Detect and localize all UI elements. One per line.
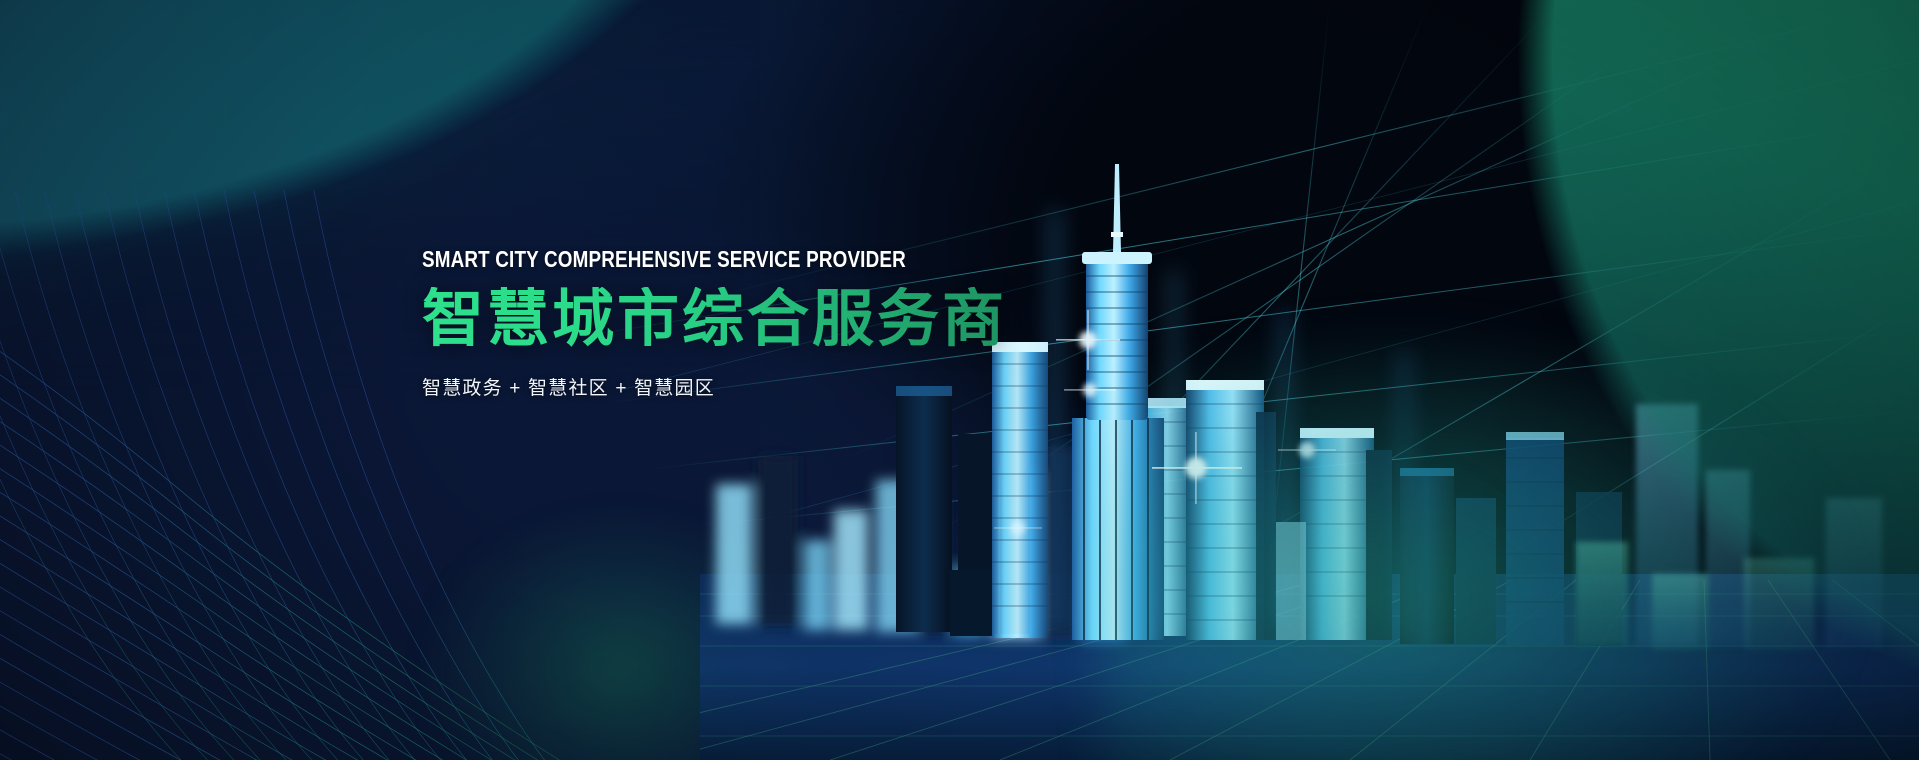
right-green-glow — [1099, 320, 1919, 760]
hero-copy-block: SMART CITY COMPREHENSIVE SERVICE PROVIDE… — [422, 248, 1182, 400]
hero-banner: SMART CITY COMPREHENSIVE SERVICE PROVIDE… — [0, 0, 1919, 760]
hero-headline-chinese: 智慧城市综合服务商 — [422, 287, 1182, 353]
hero-kicker-english: SMART CITY COMPREHENSIVE SERVICE PROVIDE… — [422, 248, 1045, 271]
hero-subline-chinese: 智慧政务 + 智慧社区 + 智慧园区 — [422, 373, 1182, 400]
